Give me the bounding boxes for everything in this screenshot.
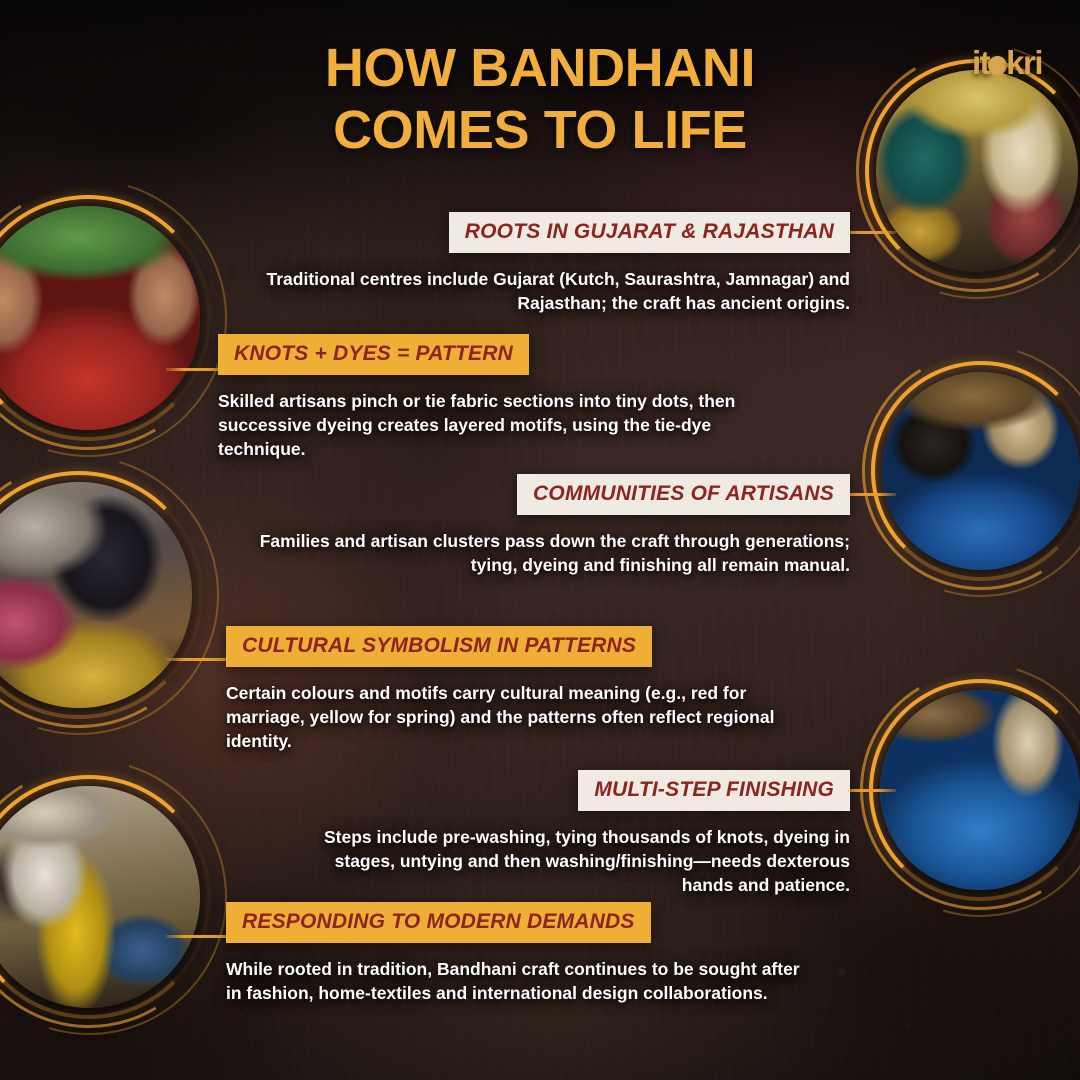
connector-line-section-2 — [166, 368, 222, 371]
photo-dyeing-vat-with-green-dye — [880, 690, 1080, 890]
section-heading-5: MULTI-STEP FINISHING — [578, 770, 850, 811]
logo-text-part-2: kri — [1006, 44, 1042, 81]
section-multi-step-finishing: MULTI-STEP FINISHING Steps include pre-w… — [318, 770, 850, 897]
section-responding-to-modern-demands: RESPONDING TO MODERN DEMANDS While roote… — [226, 902, 806, 1005]
photo-woman-artisan-at-work — [0, 482, 192, 708]
photo-hands-tying-red-fabric — [0, 206, 200, 430]
section-knots-dyes-pattern: KNOTS + DYES = PATTERN Skilled artisans … — [218, 334, 778, 461]
page-title: HOW BANDHANI COMES TO LIFE — [0, 38, 1080, 161]
connector-line-section-4 — [166, 658, 228, 661]
itokri-logo: itkri — [972, 44, 1042, 82]
section-body-2: Skilled artisans pinch or tie fabric sec… — [218, 389, 778, 461]
section-body-6: While rooted in tradition, Bandhani craf… — [226, 957, 806, 1005]
section-communities-of-artisans: COMMUNITIES OF ARTISANS Families and art… — [236, 474, 850, 577]
title-line-1: HOW BANDHANI — [0, 38, 1080, 100]
photo-artisan-lifting-yellow-dyed-fabric — [0, 786, 200, 1008]
section-body-4: Certain colours and motifs carry cultura… — [226, 681, 796, 753]
section-heading-6: RESPONDING TO MODERN DEMANDS — [226, 902, 651, 943]
infographic-poster: itkri HOW BANDHANI COMES TO LIFE — [0, 0, 1080, 1080]
section-cultural-symbolism-in-patterns: CULTURAL SYMBOLISM IN PATTERNS Certain c… — [226, 626, 796, 753]
title-line-2: COMES TO LIFE — [0, 100, 1080, 162]
section-heading-1: ROOTS IN GUJARAT & RAJASTHAN — [449, 212, 850, 253]
section-body-3: Families and artisan clusters pass down … — [236, 529, 850, 577]
section-heading-2: KNOTS + DYES = PATTERN — [218, 334, 529, 375]
connector-line-section-6 — [166, 935, 228, 938]
section-body-5: Steps include pre-washing, tying thousan… — [318, 825, 850, 897]
logo-circle-icon — [988, 56, 1007, 75]
section-heading-3: COMMUNITIES OF ARTISANS — [517, 474, 850, 515]
section-body-1: Traditional centres include Gujarat (Kut… — [250, 267, 850, 315]
section-roots-in-gujarat-rajasthan: ROOTS IN GUJARAT & RAJASTHAN Traditional… — [250, 212, 850, 315]
section-heading-4: CULTURAL SYMBOLISM IN PATTERNS — [226, 626, 652, 667]
photo-artisan-dyeing-in-blue-vat — [882, 372, 1080, 570]
logo-text-part-1: it — [972, 44, 989, 81]
